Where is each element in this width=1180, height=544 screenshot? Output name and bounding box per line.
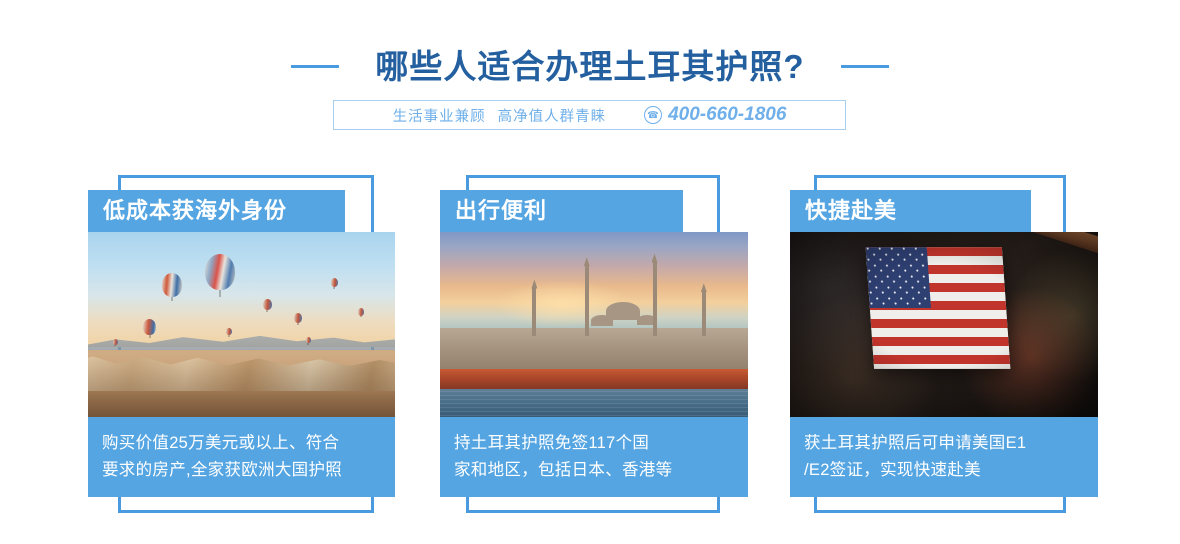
balloon-icon	[331, 278, 338, 287]
decorative-rule-left-icon	[291, 65, 339, 68]
minaret-icon	[532, 288, 536, 336]
page-header: 哪些人适合办理土耳其护照? 生活事业兼顾 高净值人群青睐 400-660-180…	[0, 0, 1180, 150]
balloon-icon	[113, 339, 118, 345]
photo-layers	[440, 232, 748, 417]
sky-layer	[88, 232, 395, 347]
card-description-line: 家和地区，包括日本、香港等	[454, 457, 734, 484]
card-content: 快捷赴美 获土耳其护照后可申请美国E1 /E2签证，实	[790, 190, 1031, 497]
card-heading-text: 低成本获海外身份	[103, 200, 287, 222]
card-description-line: 要求的房产,全家获欧洲大国护照	[102, 457, 381, 484]
minaret-icon	[702, 291, 706, 335]
balloon-icon	[263, 299, 272, 310]
usa-flag-photo	[790, 232, 1098, 417]
card-description-line: /E2签证，实现快速赴美	[804, 457, 1084, 484]
waterfront-buildings-layer	[440, 369, 748, 391]
benefit-card-low-cost-identity[interactable]: 低成本获海外身份	[78, 150, 418, 544]
phone-circle-icon	[644, 106, 662, 124]
minaret-icon	[653, 262, 657, 336]
foreground-shadow-layer	[88, 354, 395, 417]
card-content: 出行便利	[440, 190, 683, 497]
cappadocia-hot-air-balloons-photo	[88, 232, 395, 417]
balloon-icon	[294, 313, 302, 323]
subtitle-banner: 生活事业兼顾 高净值人群青睐 400-660-1806	[333, 100, 846, 130]
card-heading-bar: 出行便利	[440, 190, 683, 232]
card-description-line: 购买价值25万美元或以上、符合	[102, 430, 381, 457]
card-heading-text: 快捷赴美	[805, 200, 897, 222]
title-row: 哪些人适合办理土耳其护照?	[0, 44, 1180, 88]
benefit-card-fast-us-access[interactable]: 快捷赴美 获土耳其护照后可申请美国E1 /E2签证，实	[780, 150, 1120, 544]
card-description: 持土耳其护照免签117个国 家和地区，包括日本、香港等	[440, 417, 748, 497]
subtitle-left-text: 生活事业兼顾	[393, 105, 486, 126]
card-description-line: 持土耳其护照免签117个国	[454, 430, 734, 457]
page-title: 哪些人适合办理土耳其护照?	[375, 50, 804, 83]
balloon-icon	[358, 308, 364, 316]
balloon-icon	[143, 319, 156, 335]
card-description-line: 获土耳其护照后可申请美国E1	[804, 430, 1084, 457]
photo-layers	[790, 232, 1098, 417]
balloon-icon	[162, 273, 182, 297]
photo-layers	[88, 232, 395, 417]
benefit-cards: 低成本获海外身份	[0, 150, 1180, 544]
balloon-icon	[205, 254, 235, 290]
card-heading-bar: 低成本获海外身份	[88, 190, 345, 232]
phone-number[interactable]: 400-660-1806	[668, 104, 786, 126]
card-heading-bar: 快捷赴美	[790, 190, 1031, 232]
card-content: 低成本获海外身份	[88, 190, 345, 497]
minaret-icon	[585, 265, 589, 335]
vignette-layer	[790, 232, 1098, 417]
card-description: 购买价值25万美元或以上、符合 要求的房产,全家获欧洲大国护照	[88, 417, 395, 497]
card-heading-text: 出行便利	[455, 200, 547, 222]
water-ripple-layer	[440, 391, 748, 417]
phone-contact[interactable]: 400-660-1806	[644, 104, 786, 126]
istanbul-mosque-skyline-photo	[440, 232, 748, 417]
mosque-dome-icon	[591, 315, 613, 326]
subtitle-right-text: 高净值人群青睐	[498, 105, 607, 126]
decorative-rule-right-icon	[841, 65, 889, 68]
card-description: 获土耳其护照后可申请美国E1 /E2签证，实现快速赴美	[790, 417, 1098, 497]
benefit-card-travel-convenience[interactable]: 出行便利	[430, 150, 770, 544]
